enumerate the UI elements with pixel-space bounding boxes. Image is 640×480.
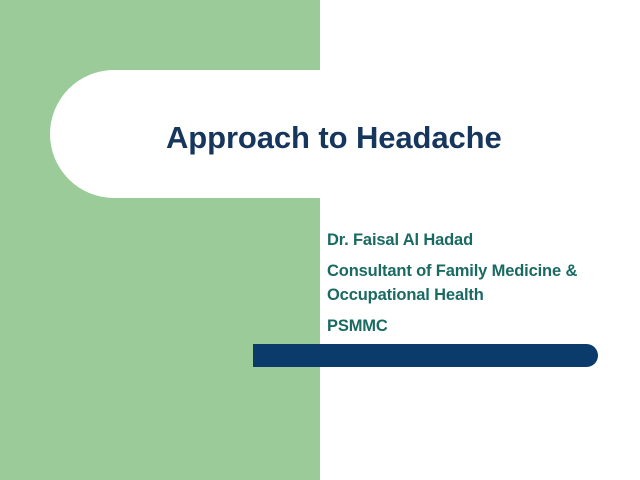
title-slide: Approach to Headache Dr. Faisal Al Hadad… <box>0 0 640 480</box>
subtitle-institution: PSMMC <box>327 314 640 338</box>
subtitle-author: Dr. Faisal Al Hadad <box>327 228 640 252</box>
subtitle-affiliation: Consultant of Family Medicine & Occupati… <box>327 259 640 307</box>
accent-bar <box>253 344 598 367</box>
page-title: Approach to Headache <box>166 116 586 160</box>
subtitle-block: Dr. Faisal Al Hadad Consultant of Family… <box>327 228 640 338</box>
